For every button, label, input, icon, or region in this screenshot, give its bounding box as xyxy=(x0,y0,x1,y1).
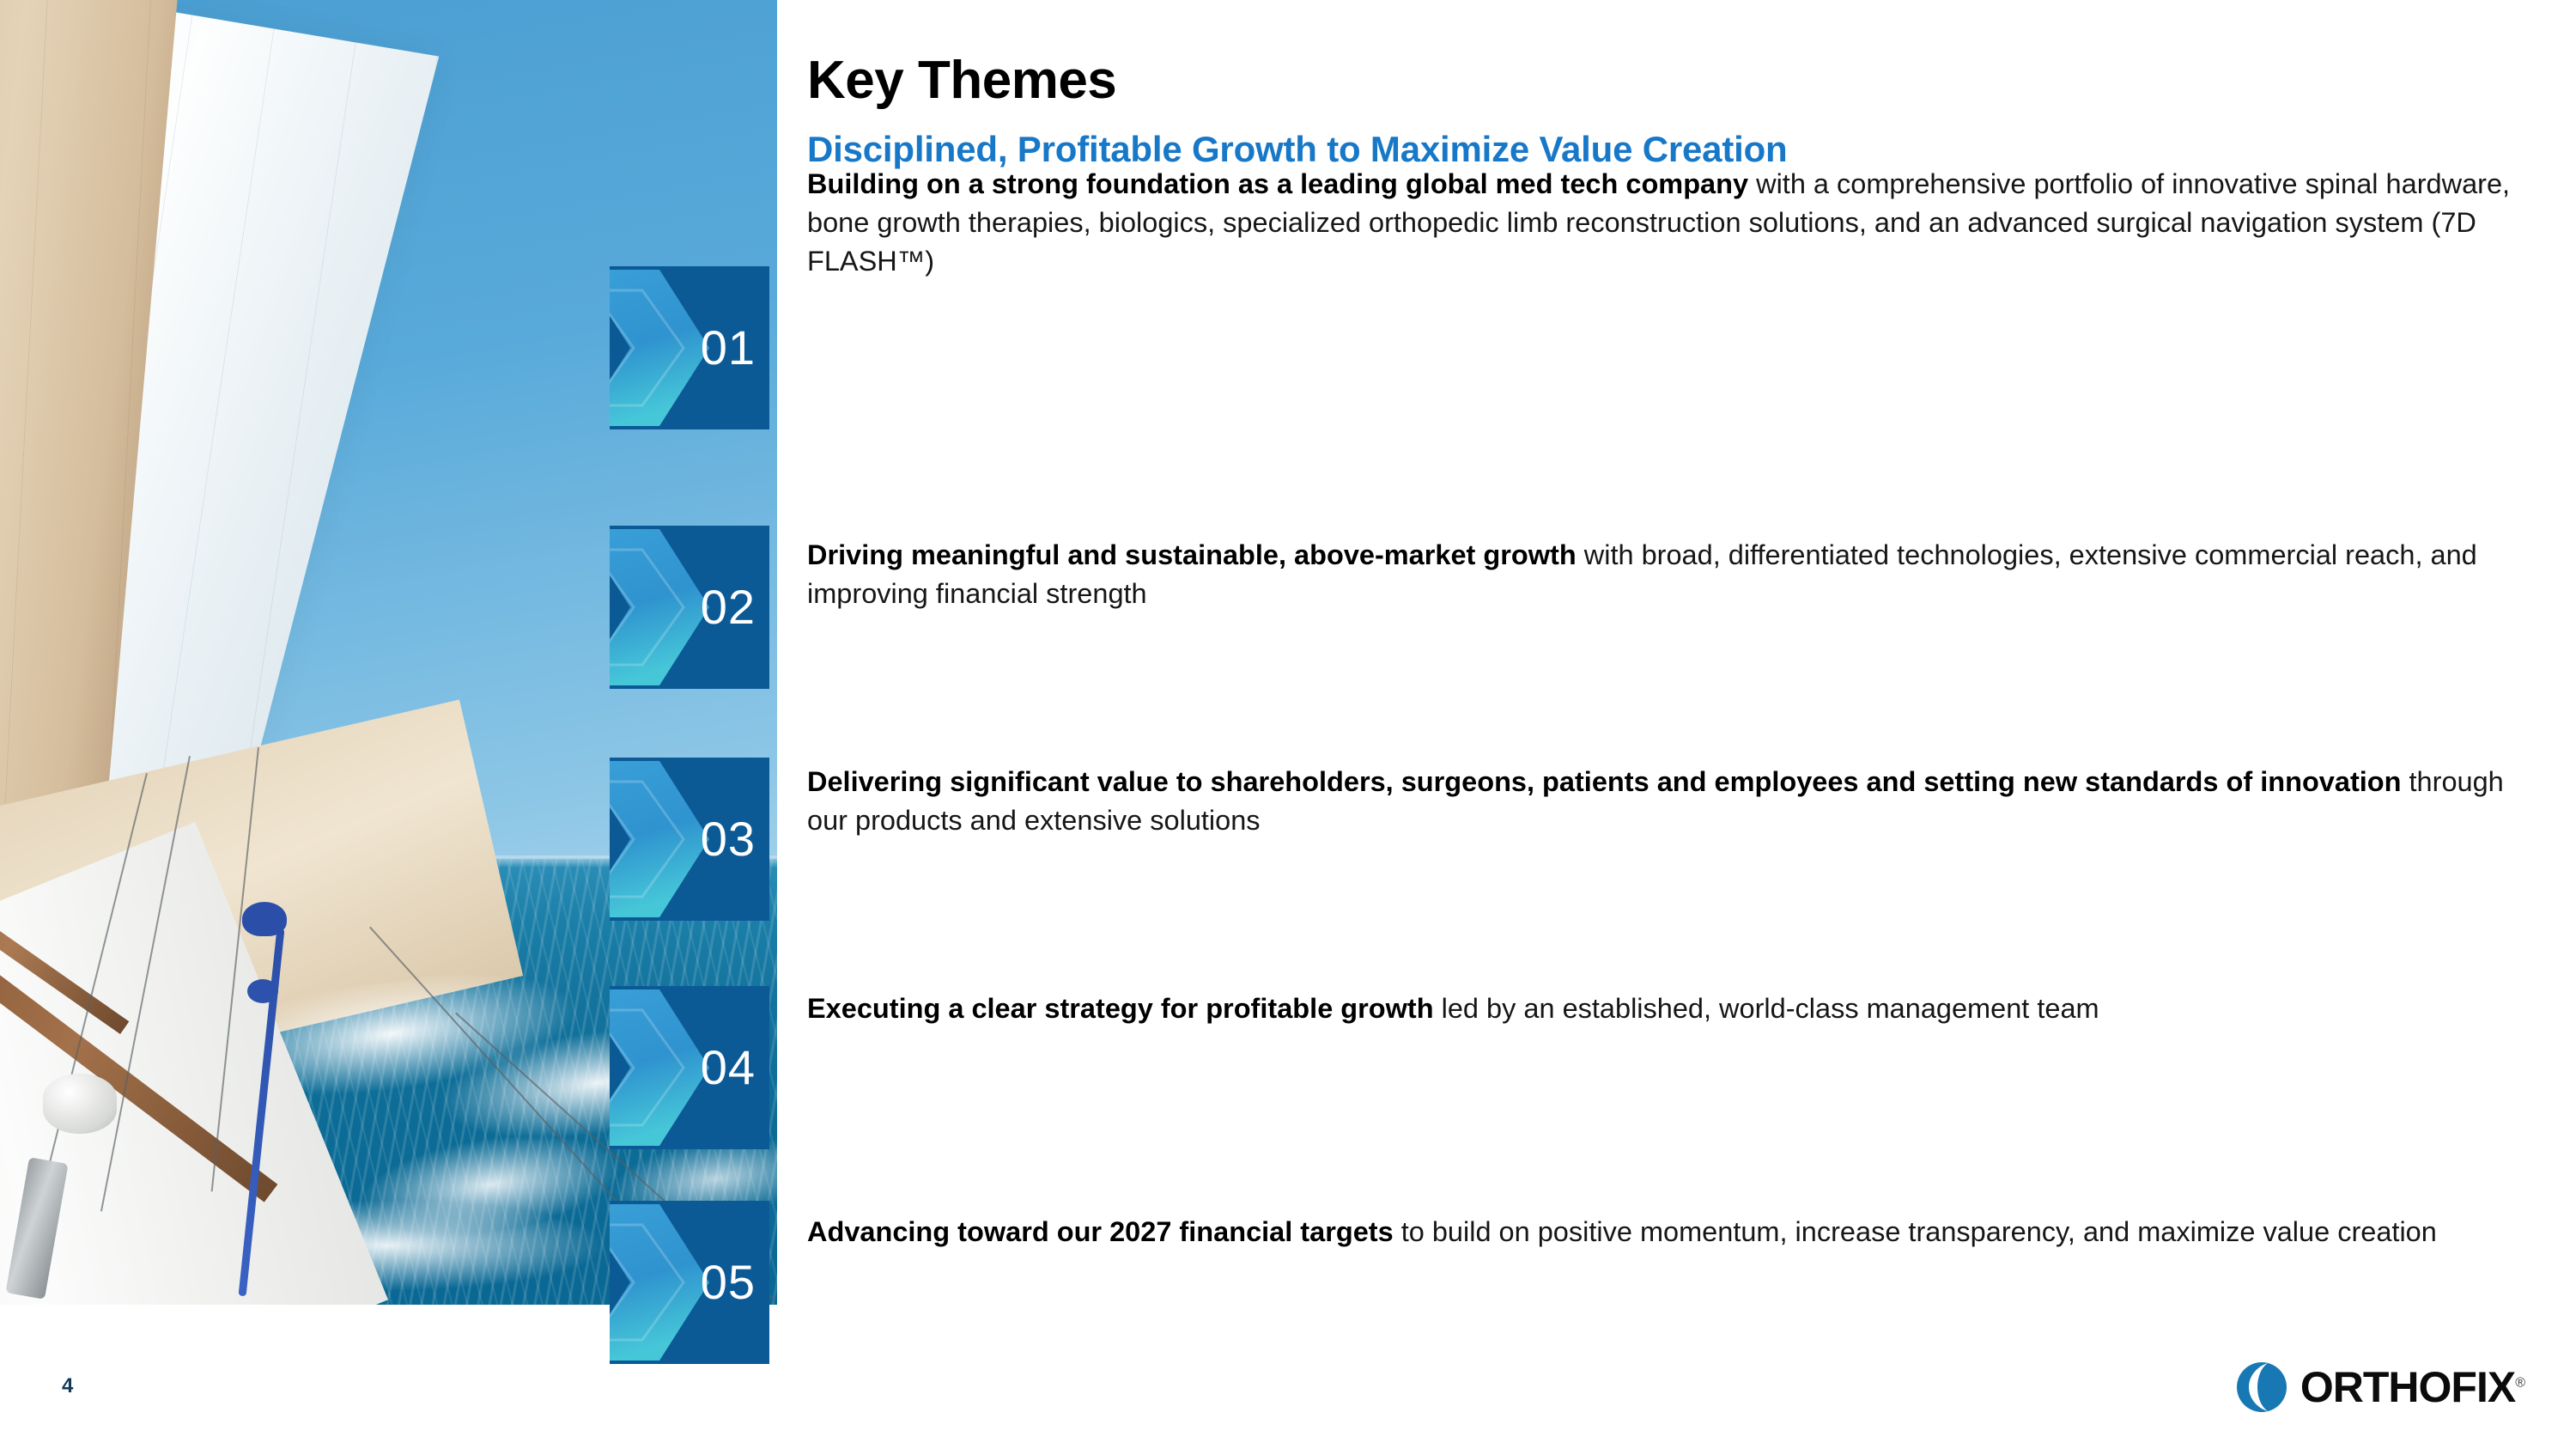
slide-content: Key Themes Disciplined, Profitable Growt… xyxy=(807,0,2533,1449)
chevron-right-icon xyxy=(610,1204,709,1361)
theme-paragraph-03: Delivering significant value to sharehol… xyxy=(807,763,2550,840)
orthofix-wordmark: ORTHOFIX® xyxy=(2300,1362,2524,1412)
chevron-right-icon xyxy=(610,529,709,685)
chevron-right-icon xyxy=(610,270,709,426)
chevron-right-icon xyxy=(610,761,709,917)
theme-bold-02: Driving meaningful and sustainable, abov… xyxy=(807,539,1577,570)
photo-winch xyxy=(43,1074,117,1134)
theme-paragraph-05: Advancing toward our 2027 financial targ… xyxy=(807,1213,2439,1251)
theme-rest-05: to build on positive momentum, increase … xyxy=(1394,1216,2437,1247)
chevron-right-icon xyxy=(610,989,709,1146)
photo-rope-knot-lower xyxy=(247,979,278,1003)
theme-paragraph-02: Driving meaningful and sustainable, abov… xyxy=(807,536,2533,613)
orthofix-circle-swoosh-icon xyxy=(2235,1361,2288,1414)
theme-badge-number: 05 xyxy=(701,1258,756,1306)
theme-badge-number: 03 xyxy=(701,815,756,863)
theme-badge-02: 02 xyxy=(610,526,769,689)
photo-rope-knot xyxy=(242,902,287,936)
theme-badge-04: 04 xyxy=(610,986,769,1149)
theme-badge-05: 05 xyxy=(610,1201,769,1364)
theme-badge-01: 01 xyxy=(610,266,769,429)
registered-trademark-symbol: ® xyxy=(2515,1375,2524,1390)
theme-bold-04: Executing a clear strategy for profitabl… xyxy=(807,993,1434,1024)
theme-badge-03: 03 xyxy=(610,758,769,921)
theme-rest-04: led by an established, world-class manag… xyxy=(1434,993,2099,1024)
page-title: Key Themes xyxy=(807,50,1116,111)
theme-paragraph-04: Executing a clear strategy for profitabl… xyxy=(807,989,2490,1028)
page-subtitle: Disciplined, Profitable Growth to Maximi… xyxy=(807,129,1788,170)
orthofix-logo: ORTHOFIX® xyxy=(2235,1361,2524,1414)
theme-bold-05: Advancing toward our 2027 financial targ… xyxy=(807,1216,1394,1247)
theme-badge-number: 02 xyxy=(701,583,756,631)
orthofix-wordmark-text: ORTHOFIX xyxy=(2300,1363,2515,1411)
theme-badge-number: 04 xyxy=(701,1044,756,1092)
theme-bold-03: Delivering significant value to sharehol… xyxy=(807,766,2402,797)
theme-bold-01: Building on a strong foundation as a lea… xyxy=(807,168,1748,199)
theme-badge-number: 01 xyxy=(701,324,756,372)
theme-paragraph-01: Building on a strong foundation as a lea… xyxy=(807,165,2533,282)
page-number: 4 xyxy=(62,1374,73,1398)
